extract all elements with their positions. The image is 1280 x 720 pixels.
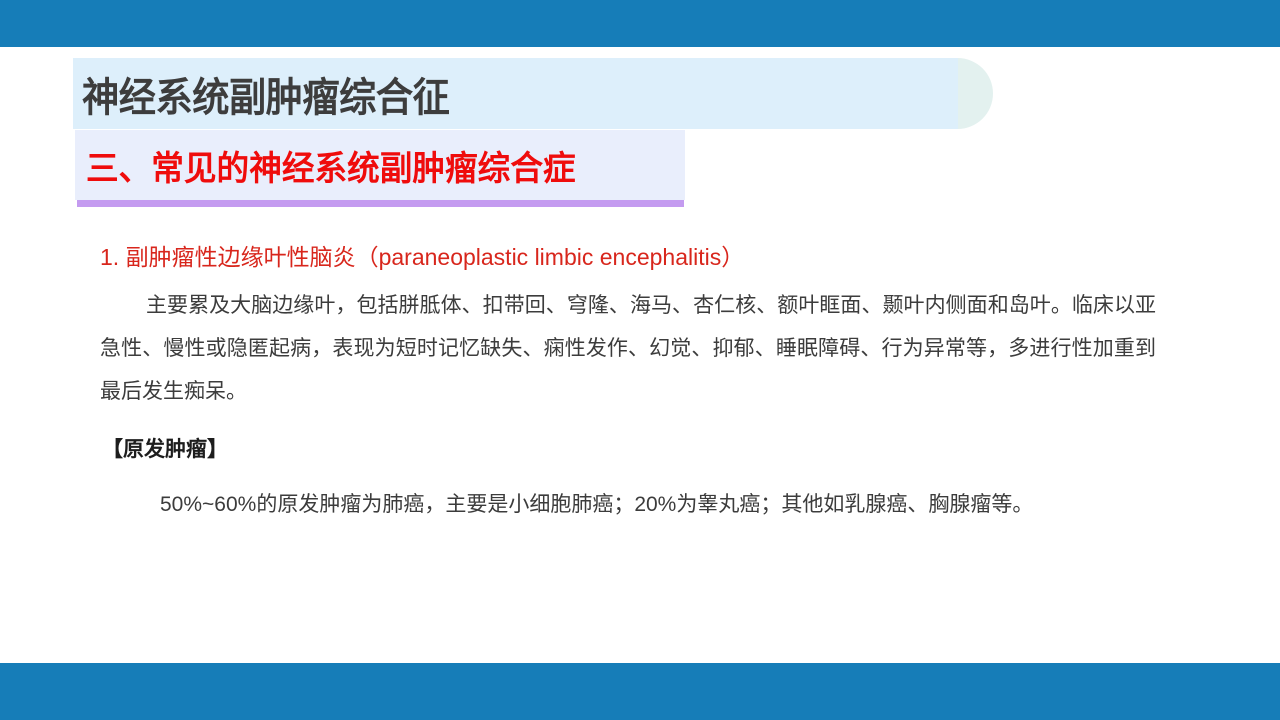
content-area: 1. 副肿瘤性边缘叶性脑炎（paraneoplastic limbic ence… — [100, 240, 1160, 526]
bottom-accent-bar — [0, 663, 1280, 720]
subsection-title: 1. 副肿瘤性边缘叶性脑炎（paraneoplastic limbic ence… — [100, 240, 1160, 274]
primary-tumor-paragraph: 50%~60%的原发肿瘤为肺癌，主要是小细胞肺癌；20%为睾丸癌；其他如乳腺癌、… — [100, 483, 1160, 526]
slide-canvas: 神经系统副肿瘤综合征 三、常见的神经系统副肿瘤综合症 1. 副肿瘤性边缘叶性脑炎… — [0, 0, 1280, 720]
primary-tumor-heading: 【原发肿瘤】 — [102, 433, 1160, 467]
body-paragraph: 主要累及大脑边缘叶，包括胼胝体、扣带回、穹隆、海马、杏仁核、额叶眶面、颞叶内侧面… — [100, 284, 1156, 413]
page-title: 神经系统副肿瘤综合征 — [82, 60, 449, 128]
section-heading-underline — [77, 200, 684, 207]
section-heading: 三、常见的神经系统副肿瘤综合症 — [86, 133, 576, 197]
top-accent-bar — [0, 0, 1280, 47]
